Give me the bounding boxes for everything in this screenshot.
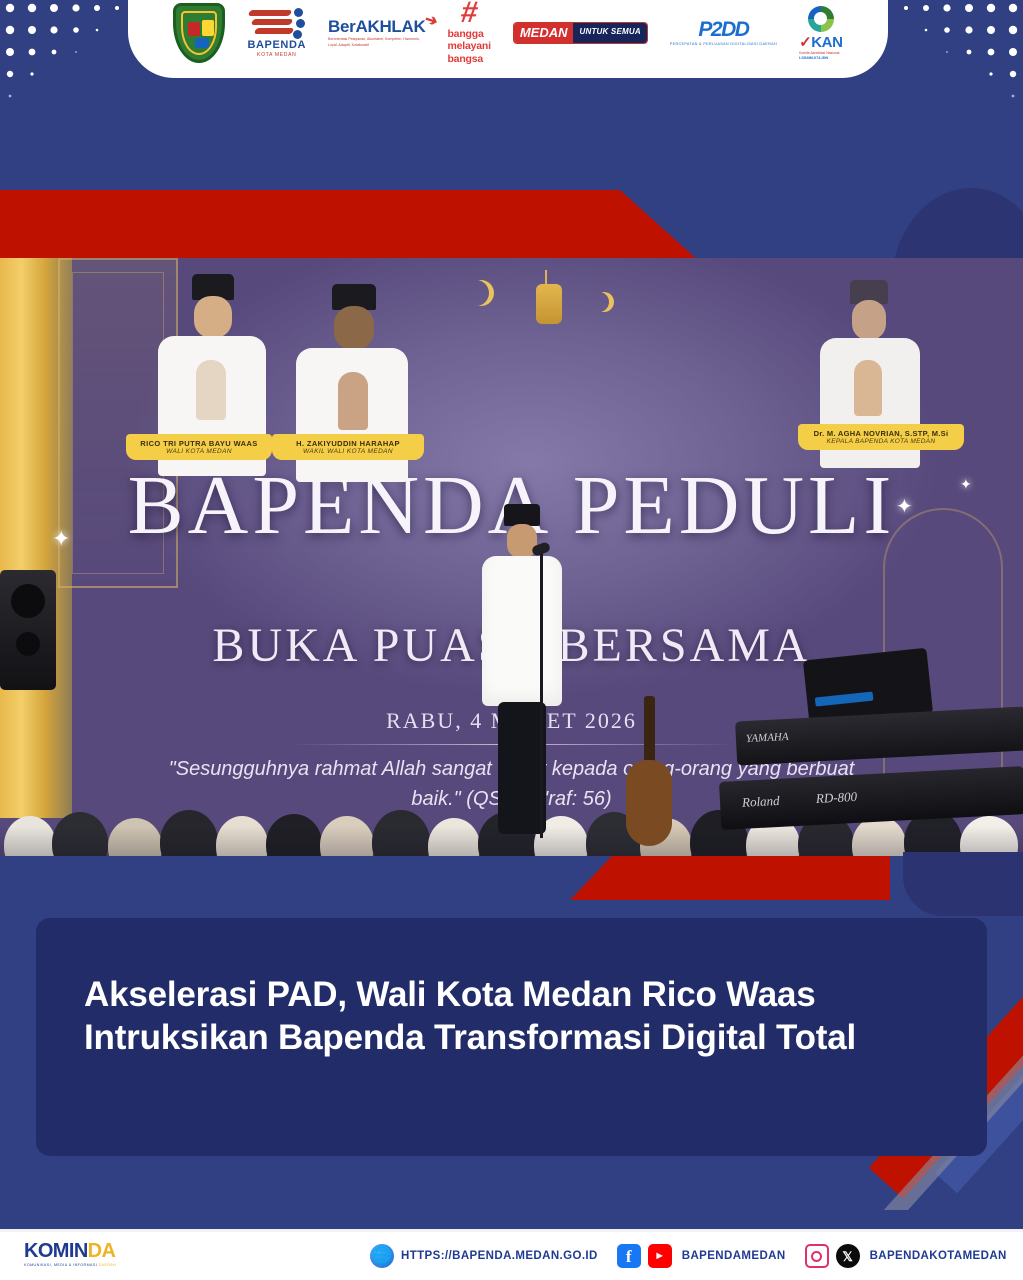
keyboard-brand-label-2: Roland: [742, 793, 780, 811]
footer-instagram-x[interactable]: 𝕏 BAPENDAKOTAMEDAN: [805, 1244, 1007, 1268]
acoustic-guitar: [626, 696, 672, 846]
kan-word: KAN: [811, 34, 842, 51]
stage-speaker: [0, 570, 56, 690]
face-2: [334, 306, 374, 350]
face-1: [194, 296, 232, 338]
nameplate-1-title: WALI KOTA MEDAN: [166, 448, 232, 455]
nameplate-1-name: RICO TRI PUTRA BAYU WAAS: [140, 439, 257, 448]
crescent-moon-icon-2: [594, 292, 614, 312]
website-url: HTTPS://BAPENDA.MEDAN.GO.ID: [401, 1250, 598, 1262]
poster-root: BAPENDA KOTA MEDAN BerAKHLAK➔ Berorienta…: [0, 0, 1023, 1280]
logo-medan-city-crest: [173, 2, 225, 64]
footer-social-group: 🌐 HTTPS://BAPENDA.MEDAN.GO.ID f ► BAPEND…: [370, 1232, 1007, 1280]
nameplate-3-title: KEPALA BAPENDA KOTA MEDAN: [827, 438, 936, 445]
bapenda-wordmark: BAPENDA: [247, 40, 306, 51]
bangga-line-1: bangga: [447, 28, 490, 40]
sparkle-icon-1: ✦: [52, 526, 70, 552]
headline-line-1: Akselerasi PAD, Wali Kota Medan Rico Waa…: [84, 974, 939, 1017]
hash-icon: #: [459, 1, 479, 25]
logo-p2dd: P2DD PERCEPATAN & PERLUASAN DIGITALISASI…: [670, 2, 777, 64]
hands-3: [854, 360, 882, 416]
facebook-icon[interactable]: f: [617, 1244, 641, 1268]
kan-accreditation-badge-icon: [808, 6, 834, 32]
logo-bangga-melayani-bangsa: # bangga melayani bangsa: [447, 2, 490, 64]
berakhlak-wordmark: BerAKHLAK➔: [328, 18, 425, 35]
medan-city-crest-icon: [173, 3, 225, 63]
kan-code: LSSMM-074-IDN: [799, 56, 828, 60]
sparkle-icon-2: ✦: [896, 494, 913, 519]
logo-bar: BAPENDA KOTA MEDAN BerAKHLAK➔ Berorienta…: [128, 0, 888, 78]
keyboard-brand-label-1: YAMAHA: [746, 731, 789, 745]
logo-medan-untuk-semua: MEDAN UNTUK SEMUA: [513, 2, 648, 64]
microphone-stand: [540, 548, 543, 838]
instagram-x-handle: BAPENDAKOTAMEDAN: [870, 1250, 1007, 1262]
dot-pattern-right-icon: [883, 0, 1023, 120]
face-3: [852, 300, 886, 340]
medan-untuk-semua-tag: MEDAN UNTUK SEMUA: [513, 22, 648, 44]
red-accent-band-bottom: [570, 856, 890, 900]
kominda-logo: KOMINDA KOMUNIKASI, MEDIA & INFORMASI DA…: [24, 1241, 116, 1267]
hero-photo: ✦ ✦ ✦ RICO TRI PUTRA BAYU WAAS WALI KOTA…: [0, 258, 1023, 856]
logo-bapenda: BAPENDA KOTA MEDAN: [247, 2, 306, 64]
footer-website[interactable]: 🌐 HTTPS://BAPENDA.MEDAN.GO.ID: [370, 1244, 598, 1268]
nameplate-2-title: WAKIL WALI KOTA MEDAN: [303, 448, 393, 455]
youtube-icon[interactable]: ►: [648, 1244, 672, 1268]
nameplate-3: Dr. M. AGHA NOVRIAN, S.STP, M.Si KEPALA …: [798, 424, 964, 450]
kominda-wordmark: KOMINDA: [24, 1241, 115, 1261]
kan-check-icon: ✓: [799, 34, 811, 51]
keyboard-model-label-2: RD-800: [816, 789, 858, 807]
headline-line-2: Intruksikan Bapenda Transformasi Digital…: [84, 1017, 939, 1060]
x-twitter-icon[interactable]: 𝕏: [836, 1244, 860, 1268]
kan-subtext: Komite Akreditasi Nasional: [799, 51, 839, 56]
nameplate-3-name: Dr. M. AGHA NOVRIAN, S.STP, M.Si: [814, 429, 949, 438]
kominda-subtext: KOMUNIKASI, MEDIA & INFORMASI DAERAH: [24, 1263, 116, 1267]
sparkle-icon-3: ✦: [960, 476, 972, 493]
berakhlak-text: BerAKHLAK: [328, 17, 425, 36]
songkok-icon-speaker: [504, 504, 540, 526]
instagram-icon[interactable]: [805, 1244, 829, 1268]
kan-text-block: ✓KAN Komite Akreditasi Nasional LSSMM-07…: [799, 35, 842, 61]
decorative-rounded-corner: [903, 852, 1023, 916]
hands-1: [196, 360, 226, 420]
footer-bar: KOMINDA KOMUNIKASI, MEDIA & INFORMASI DA…: [0, 1232, 1023, 1280]
speaker-shirt: [482, 556, 562, 706]
globe-icon: 🌐: [370, 1244, 394, 1268]
nameplate-2-name: H. ZAKIYUDDIN HARAHAP: [296, 439, 400, 448]
logo-berakhlak: BerAKHLAK➔ Berorientasi Pelayanan, Akunt…: [328, 2, 425, 64]
kominda-sub-1: KOMUNIKASI, MEDIA & INFORMASI: [24, 1263, 97, 1267]
headline-card: Akselerasi PAD, Wali Kota Medan Rico Waa…: [36, 918, 987, 1156]
red-accent-band-top: [0, 190, 700, 262]
p2dd-wordmark: P2DD: [698, 19, 748, 40]
berakhlak-subtext: Berorientasi Pelayanan, Akuntabel, Kompe…: [328, 37, 420, 48]
crescent-moon-icon: [468, 280, 494, 306]
facebook-youtube-handle: BAPENDAMEDAN: [682, 1250, 786, 1262]
medan-word: MEDAN: [514, 23, 574, 43]
p2dd-subtext: PERCEPATAN & PERLUASAN DIGITALISASI DAER…: [670, 42, 777, 48]
footer-facebook-youtube[interactable]: f ► BAPENDAMEDAN: [617, 1244, 786, 1268]
bangga-words: bangga melayani bangsa: [447, 28, 490, 64]
kan-wordmark: ✓KAN: [799, 35, 842, 50]
kominda-part-1: KOMIN: [24, 1240, 88, 1262]
bapenda-mark-icon: [249, 8, 305, 40]
bangga-line-2: melayani: [447, 40, 490, 52]
speaker-person: [478, 504, 566, 834]
bapenda-subtext: KOTA MEDAN: [257, 52, 296, 58]
dot-pattern-left-icon: [0, 0, 140, 120]
hands-2: [338, 372, 368, 430]
logo-kan: ✓KAN Komite Akreditasi Nasional LSSMM-07…: [799, 2, 842, 64]
kominda-part-2: DA: [88, 1240, 116, 1262]
lantern-icon: [536, 284, 562, 324]
berakhlak-swoosh-icon: ➔: [423, 12, 439, 30]
bangga-line-3: bangsa: [447, 53, 490, 65]
kominda-sub-2: DAERAH: [99, 1263, 117, 1267]
speaker-trousers: [498, 702, 546, 834]
nameplate-1: RICO TRI PUTRA BAYU WAAS WALI KOTA MEDAN: [126, 434, 272, 460]
nameplate-2: H. ZAKIYUDDIN HARAHAP WAKIL WALI KOTA ME…: [272, 434, 424, 460]
untuk-semua-word: UNTUK SEMUA: [573, 23, 646, 43]
